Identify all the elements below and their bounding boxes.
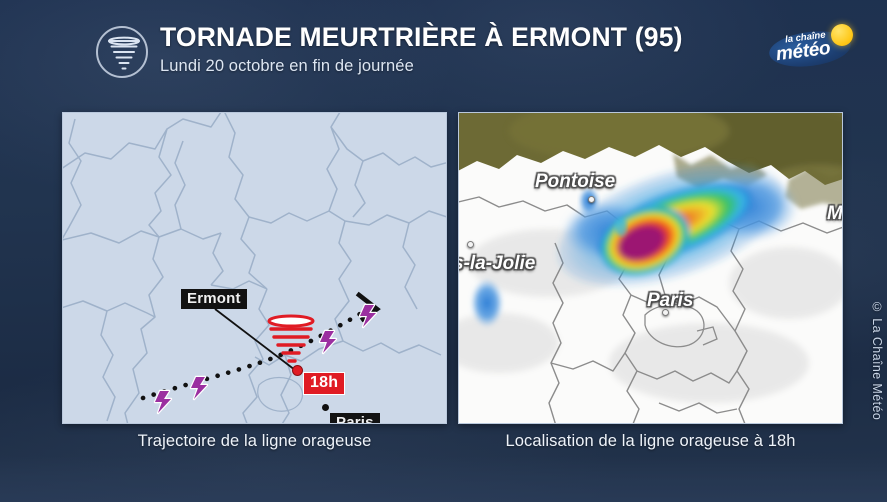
- bottom-gradient-band: [0, 456, 887, 502]
- time-badge: 18h: [303, 372, 345, 395]
- title-block: TORNADE MEURTRIÈRE À ERMONT (95) Lundi 2…: [160, 23, 683, 76]
- sun-icon: [831, 24, 853, 46]
- paris-marker-dot: [322, 404, 329, 411]
- header: TORNADE MEURTRIÈRE À ERMONT (95) Lundi 2…: [0, 0, 887, 100]
- city-dot-mantes: [467, 241, 474, 248]
- radar-label-paris: Paris: [647, 290, 693, 312]
- radar-cell-secondary: [615, 218, 627, 236]
- channel-logo: la chaîne météo: [769, 18, 857, 72]
- map-label-ermont: Ermont: [181, 289, 247, 309]
- radar-cell-secondary: [471, 279, 503, 327]
- tornado-icon: [96, 26, 148, 78]
- radar-map-panel[interactable]: Pontoise s-la-Jolie Paris M: [458, 112, 843, 424]
- ermont-marker-dot: [292, 365, 303, 376]
- trajectory-map-svg: [63, 113, 447, 424]
- radar-label-meaux: M: [827, 203, 843, 225]
- copyright-notice: © La Chaîne Météo: [870, 300, 884, 420]
- weather-infographic: TORNADE MEURTRIÈRE À ERMONT (95) Lundi 2…: [0, 0, 887, 502]
- city-dot-pontoise: [588, 196, 595, 203]
- map-label-paris: Paris: [330, 413, 380, 424]
- caption-trajectory: Trajectoire de la ligne orageuse: [62, 432, 447, 451]
- radar-label-pontoise: Pontoise: [535, 171, 615, 193]
- trajectory-map-panel[interactable]: Ermont 18h Paris: [62, 112, 447, 424]
- radar-label-mantes-la-jolie: s-la-Jolie: [458, 253, 535, 275]
- caption-localisation: Localisation de la ligne orageuse à 18h: [458, 432, 843, 451]
- page-subtitle: Lundi 20 octobre en fin de journée: [160, 57, 683, 76]
- page-title: TORNADE MEURTRIÈRE À ERMONT (95): [160, 23, 683, 52]
